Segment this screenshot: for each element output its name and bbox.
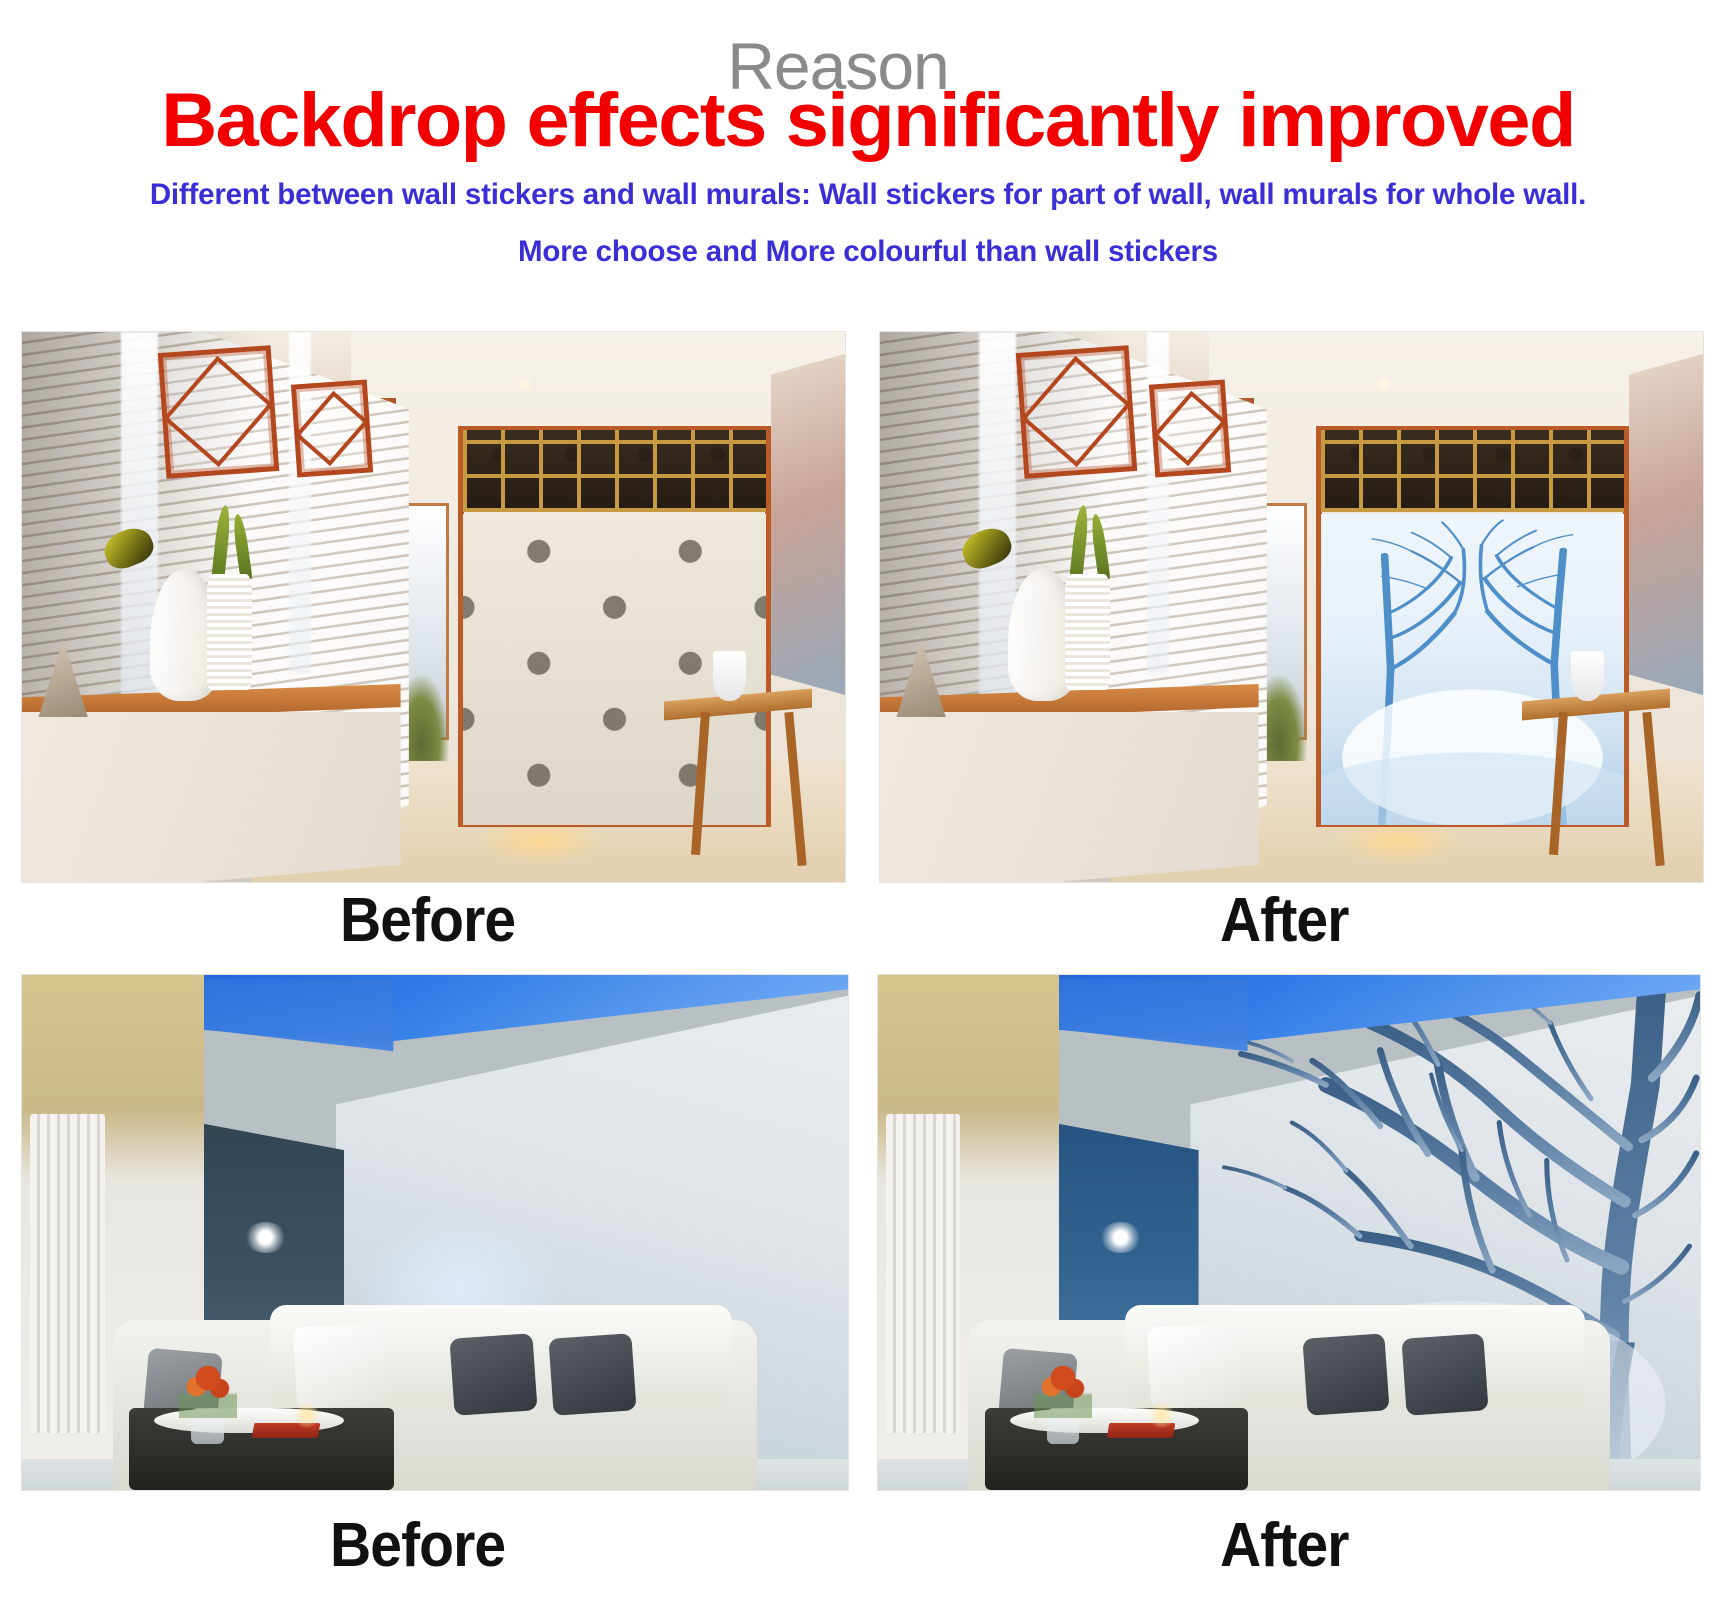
- right-wall-artwork: [1629, 354, 1703, 695]
- ribbed-planter: [207, 574, 252, 690]
- cabinet: [22, 712, 401, 883]
- decorative-vase: [1571, 651, 1604, 701]
- page-title: Backdrop effects significantly improved: [0, 82, 1736, 160]
- ribbed-planter: [1065, 574, 1110, 690]
- caption-living-room-before: Before: [330, 1515, 505, 1577]
- caption-hallway-before: Before: [340, 890, 515, 952]
- subtitle-line-1: Different between wall stickers and wall…: [0, 172, 1736, 217]
- downlight-icon: [1100, 1222, 1141, 1253]
- hallway-after-photo: [880, 332, 1703, 882]
- dark-pillow: [548, 1333, 636, 1416]
- caption-living-room-after: After: [1220, 1515, 1349, 1577]
- white-pillow: [292, 1323, 387, 1410]
- cabinet: [880, 712, 1259, 883]
- ceiling-spotlight-icon: [1374, 376, 1392, 393]
- flower-bouquet: [1034, 1361, 1092, 1418]
- flower-bouquet: [179, 1361, 237, 1418]
- living-room-after-photo: [878, 975, 1700, 1490]
- lattice-ornament-icon: [1016, 345, 1137, 478]
- white-pillow: [1147, 1323, 1242, 1410]
- lattice-transom: [463, 430, 766, 513]
- caption-hallway-after: After: [1220, 890, 1349, 952]
- dark-pillow: [1303, 1333, 1390, 1416]
- radiator: [886, 1114, 960, 1433]
- dark-pillow: [1401, 1333, 1488, 1416]
- lattice-ornament-icon: [1148, 379, 1230, 477]
- lattice-transom: [1321, 430, 1624, 513]
- candle-glow: [1149, 1402, 1174, 1428]
- lattice-ornament-icon: [290, 379, 372, 477]
- living-room-before-photo: [22, 975, 848, 1490]
- living-room-scene-after: [878, 975, 1700, 1490]
- lattice-ornament-icon: [158, 345, 279, 478]
- promo-banner: Reason Backdrop effects significantly im…: [0, 0, 1736, 1600]
- hallway-before-photo: [22, 332, 845, 882]
- hallway-scene-after: [880, 332, 1703, 882]
- subtitle-line-2: More choose and More colourful than wall…: [0, 229, 1736, 274]
- hallway-scene-before: [22, 332, 845, 882]
- living-room-scene-before: [22, 975, 848, 1490]
- ceiling-spotlight-icon: [516, 376, 534, 393]
- radiator: [30, 1114, 104, 1433]
- dark-pillow: [449, 1333, 537, 1416]
- header: Reason Backdrop effects significantly im…: [0, 0, 1736, 274]
- decorative-vase: [713, 651, 746, 701]
- right-wall-artwork: [771, 354, 845, 695]
